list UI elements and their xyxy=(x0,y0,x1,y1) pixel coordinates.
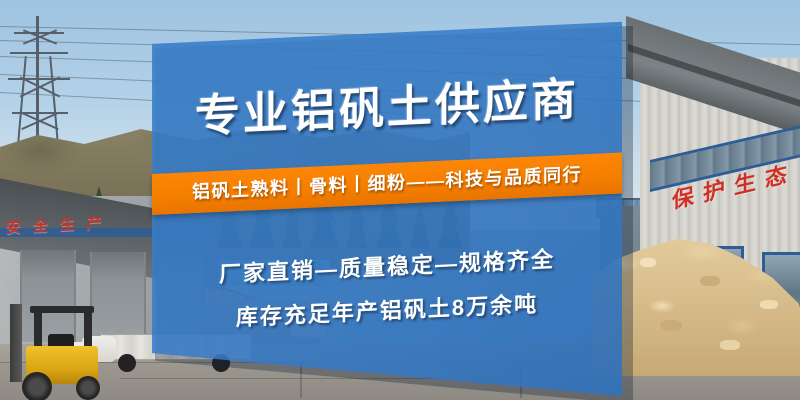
ore-chunk xyxy=(720,340,740,350)
subline-primary: 厂家直销—质量稳定—规格齐全 xyxy=(152,238,622,292)
ore-chunk xyxy=(700,276,720,286)
ore-chunk xyxy=(640,258,656,267)
forklift-mast xyxy=(10,304,22,382)
promotional-banner: 安全生产 xyxy=(0,0,800,400)
banner-content: 专业铝矾土供应商 铝矾土熟料丨骨料丨细粉——科技与品质同行 厂家直销—质量稳定—… xyxy=(152,0,622,398)
forklift xyxy=(8,300,118,400)
forklift-wheel xyxy=(76,376,100,400)
ore-chunk xyxy=(760,300,778,309)
page-title: 专业铝矾土供应商 xyxy=(152,60,622,147)
forklift-wheel xyxy=(22,372,52,400)
ore-chunk xyxy=(660,320,682,331)
truck-wheel xyxy=(118,354,136,372)
tagline-bar: 铝矾土熟料丨骨料丨细粉——科技与品质同行 xyxy=(152,152,622,215)
tagline-text: 铝矾土熟料丨骨料丨细粉——科技与品质同行 xyxy=(152,152,622,215)
subline-secondary: 库存充足年产铝矾土8万余吨 xyxy=(152,282,622,336)
